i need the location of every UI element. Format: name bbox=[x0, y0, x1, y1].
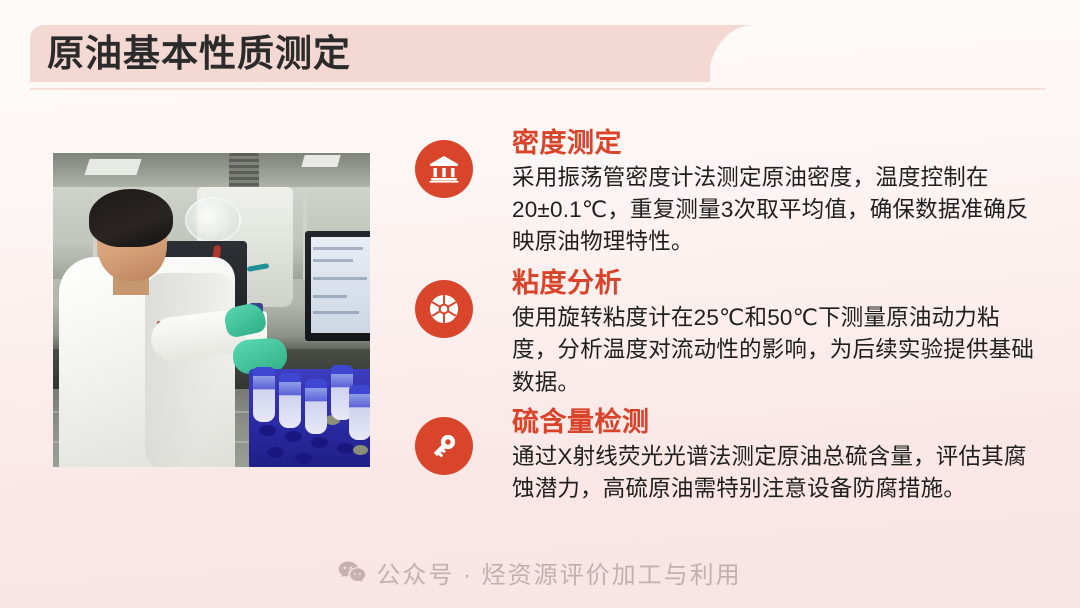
title-divider bbox=[30, 88, 1045, 90]
photo-test-tube bbox=[279, 373, 301, 428]
content-block-density: 密度测定 采用振荡管密度计法测定原油密度，温度控制在20±0.1℃，重复测量3次… bbox=[415, 128, 1035, 258]
photo-test-tube bbox=[349, 385, 370, 440]
footer-text: 公众号 · 烃资源评价加工与利用 bbox=[376, 555, 741, 590]
photo-monitor-screen bbox=[311, 237, 370, 333]
lab-technician-photo bbox=[53, 153, 370, 467]
photo-test-tube bbox=[305, 379, 327, 434]
aperture-icon bbox=[415, 280, 473, 338]
content-block-sulfur: 硫含量检测 通过X射线荧光光谱法测定原油总硫含量，评估其腐蚀潜力，高硫原油需特别… bbox=[415, 407, 1035, 505]
block-title: 硫含量检测 bbox=[512, 407, 1035, 439]
photo-coat-shadow bbox=[145, 273, 235, 467]
page-title: 原油基本性质测定 bbox=[47, 25, 351, 82]
content-block-body: 粘度分析 使用旋转粘度计在25℃和50℃下测量原油动力粘度，分析温度对流动性的影… bbox=[512, 268, 1035, 398]
wechat-icon bbox=[338, 561, 366, 585]
content-block-viscosity: 粘度分析 使用旋转粘度计在25℃和50℃下测量原油动力粘度，分析温度对流动性的影… bbox=[415, 268, 1035, 398]
photo-glass-flask bbox=[185, 197, 241, 243]
photo-hair bbox=[89, 189, 173, 247]
bank-icon bbox=[415, 140, 473, 198]
block-description: 使用旋转粘度计在25℃和50℃下测量原油动力粘度，分析温度对流动性的影响，为后续… bbox=[512, 302, 1035, 399]
content-block-body: 硫含量检测 通过X射线荧光光谱法测定原油总硫含量，评估其腐蚀潜力，高硫原油需特别… bbox=[512, 407, 1035, 505]
slide-root: 原油基本性质测定 bbox=[0, 0, 1080, 608]
block-description: 采用振荡管密度计法测定原油密度，温度控制在20±0.1℃，重复测量3次取平均值，… bbox=[512, 162, 1035, 259]
key-icon bbox=[415, 417, 473, 475]
block-title: 密度测定 bbox=[512, 128, 1035, 160]
block-description: 通过X射线荧光光谱法测定原油总硫含量，评估其腐蚀潜力，高硫原油需特别注意设备防腐… bbox=[512, 441, 1035, 505]
photo-ceiling-light bbox=[84, 159, 141, 175]
photo-test-tube bbox=[253, 367, 275, 422]
content-column: 密度测定 采用振荡管密度计法测定原油密度，温度控制在20±0.1℃，重复测量3次… bbox=[415, 128, 1035, 513]
photo-ceiling-light bbox=[301, 155, 340, 167]
content-block-body: 密度测定 采用振荡管密度计法测定原油密度，温度控制在20±0.1℃，重复测量3次… bbox=[512, 128, 1035, 258]
block-title: 粘度分析 bbox=[512, 268, 1035, 300]
footer-watermark: 公众号 · 烃资源评价加工与利用 bbox=[0, 555, 1080, 590]
